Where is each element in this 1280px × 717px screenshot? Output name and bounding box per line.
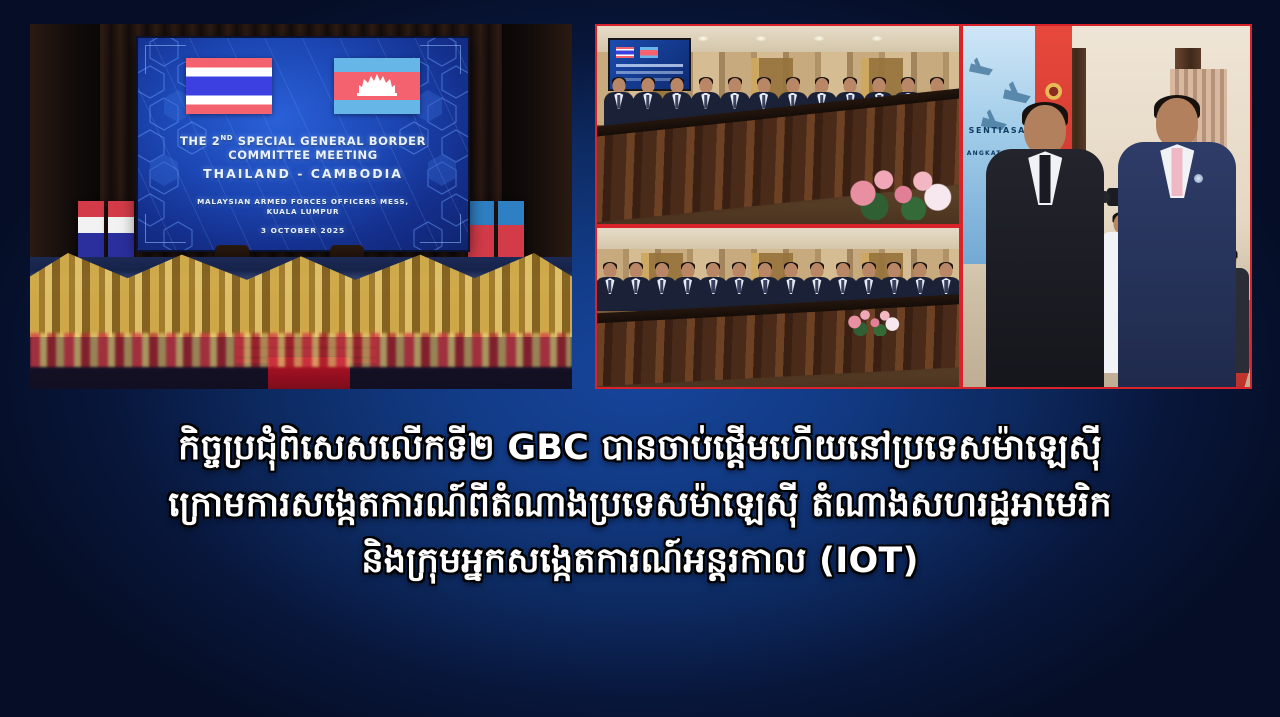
gold-drape	[30, 253, 572, 337]
ceiling-light	[872, 36, 882, 41]
monitor-flags	[616, 47, 658, 58]
monitor-text-lines	[616, 64, 683, 67]
ceiling-light	[814, 36, 824, 41]
headline-line-2: ក្រោមការសង្កេតការណ៍ពីតំណាងប្រទេសម៉ាឡេស៊ី…	[40, 477, 1240, 534]
cambodia-flag-icon	[334, 58, 420, 114]
thailand-flag-icon	[616, 47, 634, 58]
led-screen-text: THE 2ND SPECIAL GENERAL BORDER COMMITTEE…	[150, 134, 456, 235]
headline: កិច្ចប្រជុំពិសេសលើកទី២ GBC បានចាប់ផ្ដើមហ…	[0, 420, 1280, 590]
meeting-venue: MALAYSIAN ARMED FORCES OFFICERS MESS, KU…	[150, 197, 456, 218]
thailand-flag-icon	[186, 58, 272, 114]
official-right	[1112, 98, 1242, 387]
ceiling-light	[756, 36, 766, 41]
meeting-title-line-1: THE 2ND SPECIAL GENERAL BORDER COMMITTEE…	[150, 134, 456, 162]
stage-front	[30, 257, 572, 389]
ceiling	[597, 228, 959, 249]
meeting-photo-top	[597, 26, 959, 224]
meeting-title-line-2: THAILAND - CAMBODIA	[150, 166, 456, 181]
screen-flags	[138, 58, 468, 114]
headline-line-1: កិច្ចប្រជុំពិសេសលើកទី២ GBC បានចាប់ផ្ដើមហ…	[40, 420, 1240, 477]
flower-arrangement	[30, 333, 572, 367]
cambodia-flag-icon	[640, 47, 658, 58]
news-poster: THE 2ND SPECIAL GENERAL BORDER COMMITTEE…	[0, 0, 1280, 717]
headline-line-3: និងក្រុមអ្នកសង្កេតការណ៍អន្តរកាល (IOT)	[40, 533, 1240, 590]
walking-photo: SENTIASA ANGKATAN	[963, 26, 1250, 387]
stage-photo: THE 2ND SPECIAL GENERAL BORDER COMMITTEE…	[30, 24, 572, 389]
meeting-date: 3 OCTOBER 2025	[150, 226, 456, 235]
angkor-wat-icon	[357, 74, 397, 96]
table-flowers	[840, 153, 956, 220]
led-screen: THE 2ND SPECIAL GENERAL BORDER COMMITTEE…	[138, 38, 468, 250]
meeting-photo-bottom	[597, 228, 959, 387]
official-left	[980, 105, 1110, 387]
table-flowers	[843, 301, 901, 336]
right-photo-group: SENTIASA ANGKATAN	[595, 24, 1252, 389]
photo-collage: THE 2ND SPECIAL GENERAL BORDER COMMITTEE…	[30, 24, 1252, 389]
